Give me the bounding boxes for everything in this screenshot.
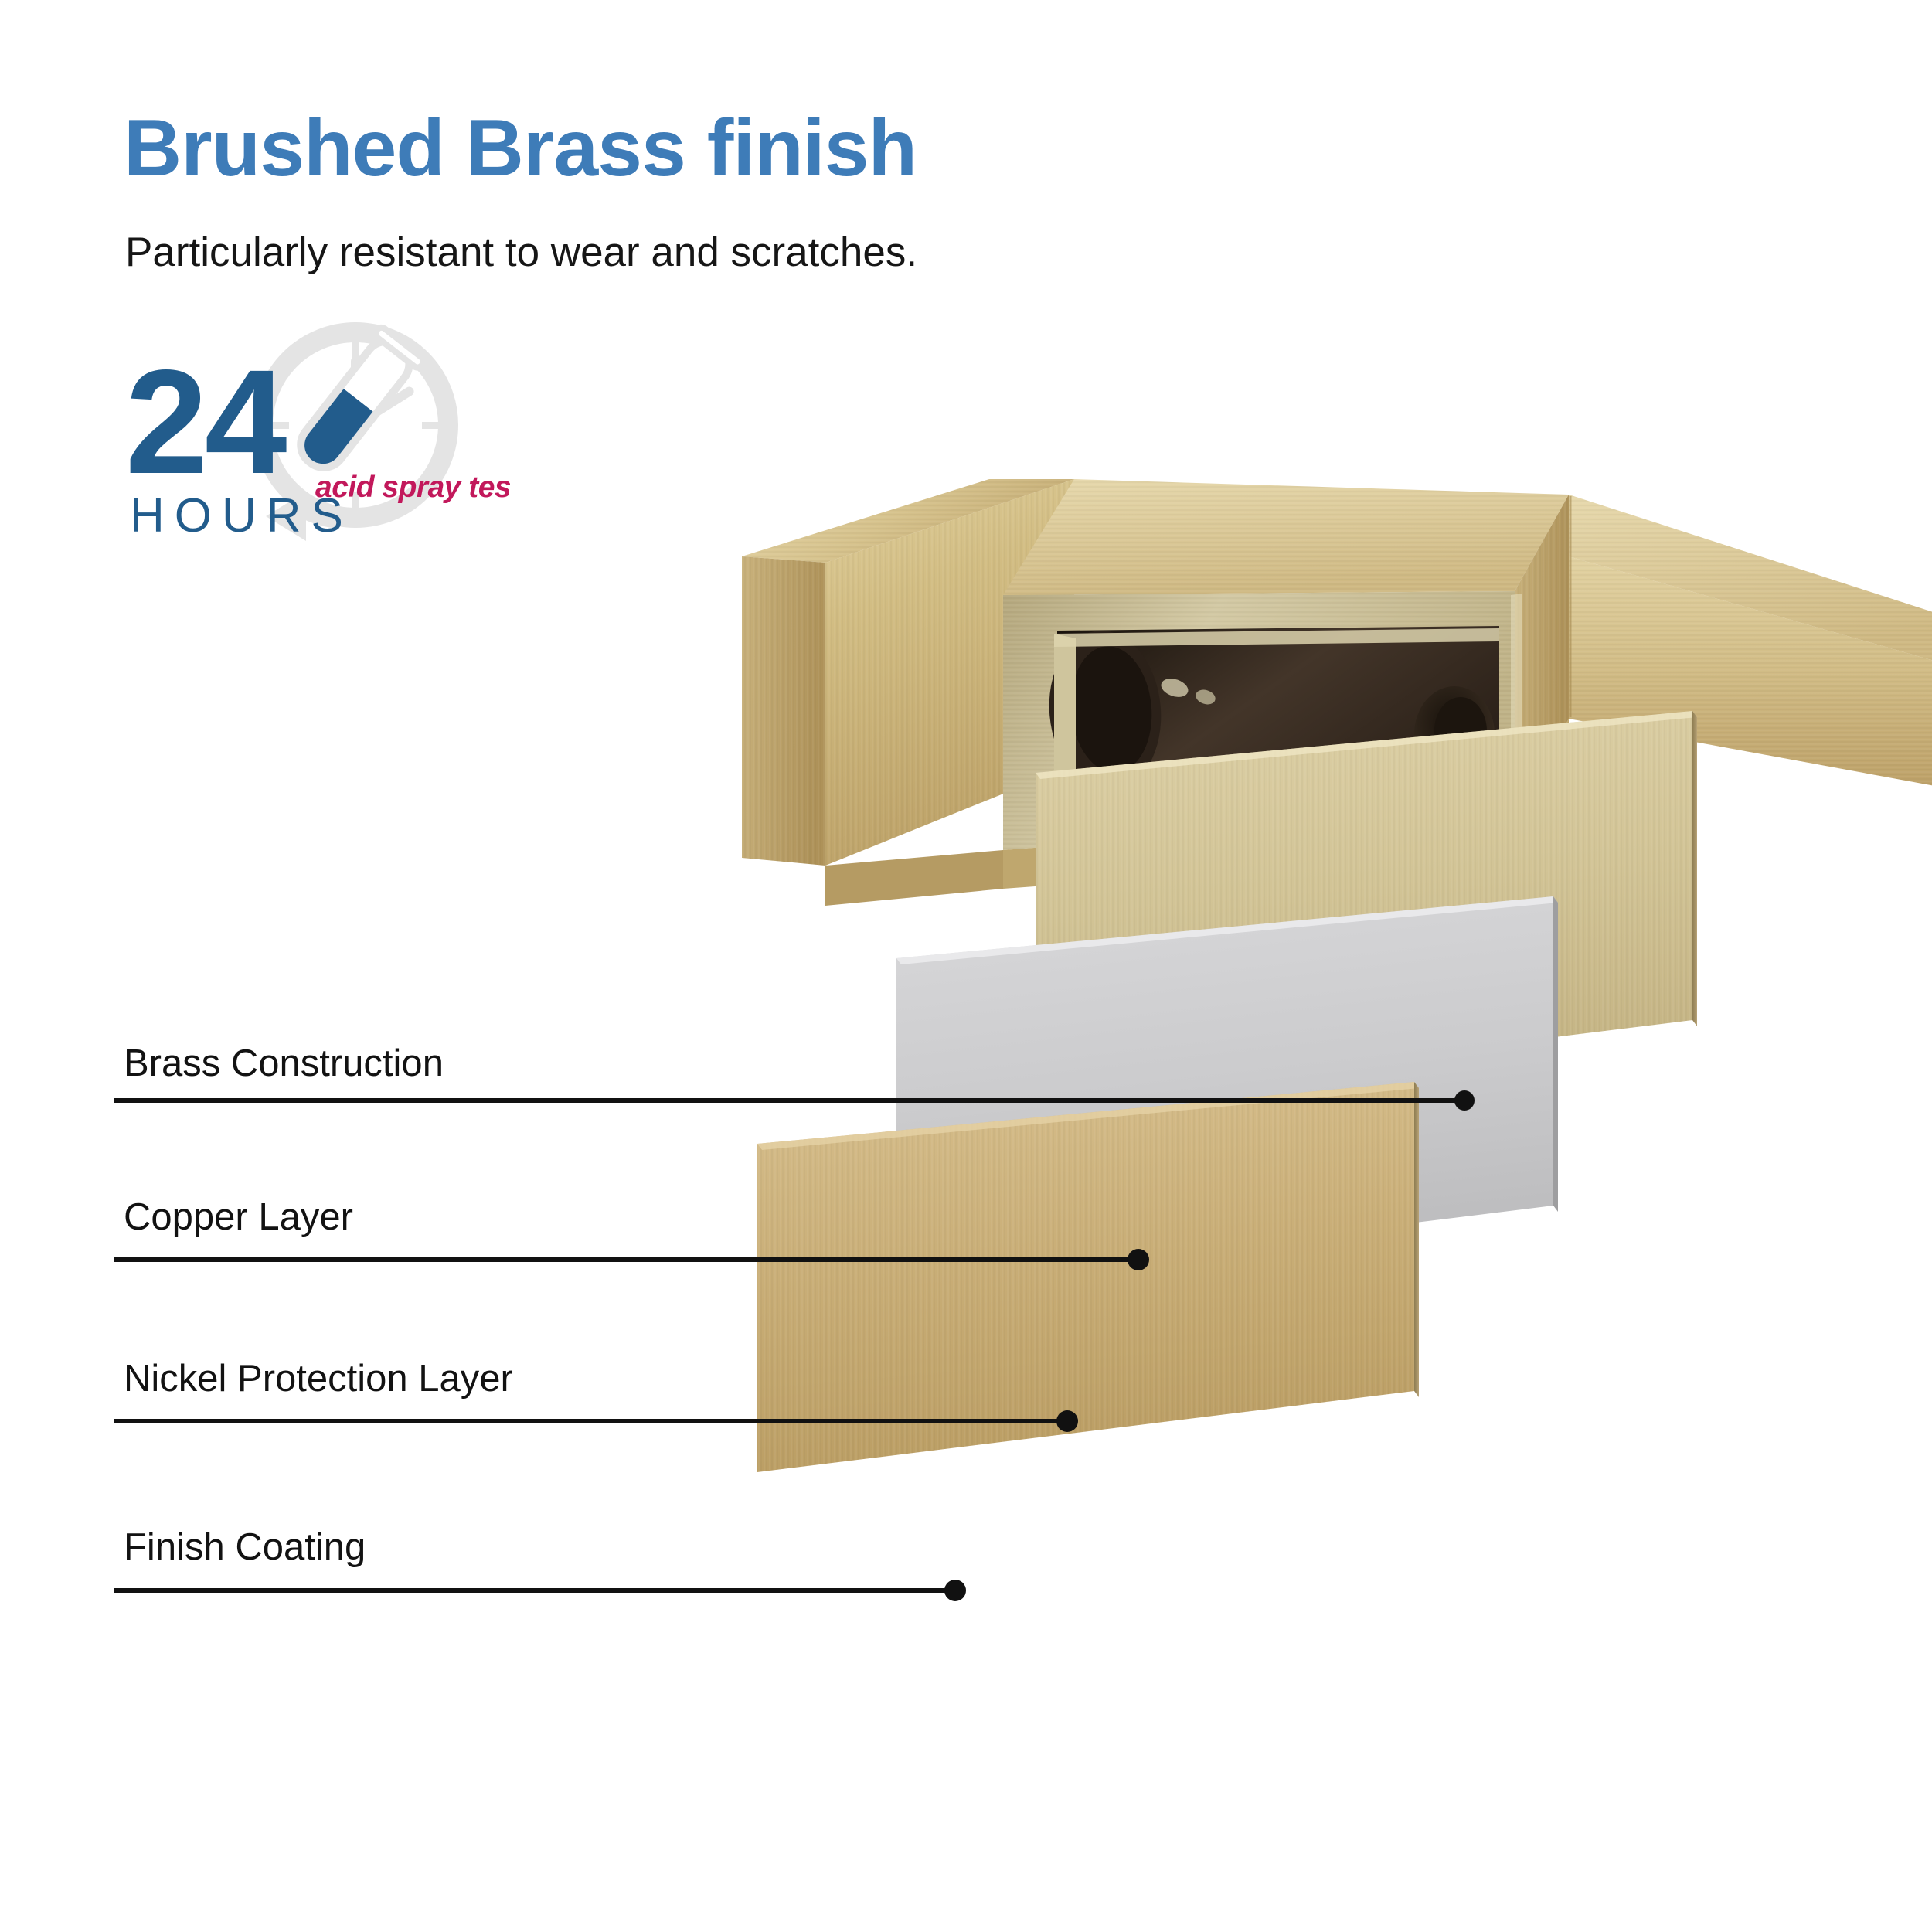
- callout-label-finish-coating: Finish Coating: [124, 1529, 366, 1566]
- leader-line-nickel-protection-layer: [114, 1410, 1078, 1432]
- callout-label-copper-layer: Copper Layer: [124, 1199, 353, 1236]
- leader-dot-copper: [1128, 1249, 1149, 1270]
- leader-dot-nickel: [1056, 1410, 1078, 1432]
- callout-label-brass-construction: Brass Construction: [124, 1045, 444, 1083]
- infographic-canvas: Brushed Brass finish Particularly resist…: [0, 0, 1932, 1932]
- callout-label-nickel-protection-layer: Nickel Protection Layer: [124, 1360, 513, 1398]
- leader-dot-finish: [944, 1580, 966, 1601]
- callout-group: Brass Construction Copper Layer Nickel P…: [0, 0, 1932, 1932]
- leader-dot-brass: [1454, 1090, 1475, 1111]
- leader-line-copper-layer: [114, 1249, 1149, 1270]
- leader-line-finish-coating: [114, 1580, 966, 1601]
